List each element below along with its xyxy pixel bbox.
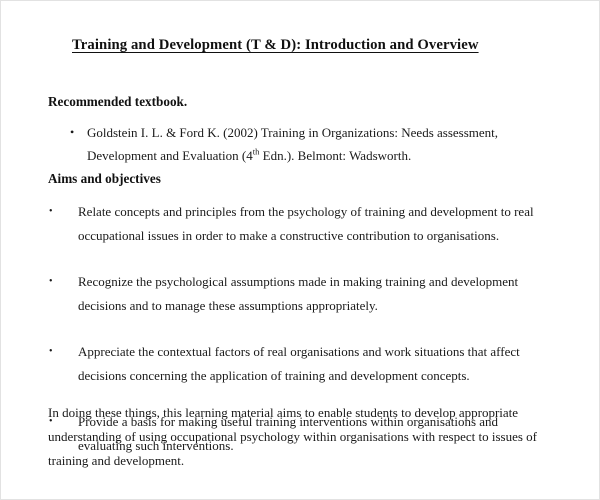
section-heading-aims-and-objectives: Aims and objectives — [48, 170, 161, 188]
bullet-icon: • — [49, 270, 53, 294]
list-item-text: Appreciate the contextual factors of rea… — [78, 344, 520, 383]
list-item-text: Relate concepts and principles from the … — [78, 204, 534, 243]
list-item: •Goldstein I. L. & Ford K. (2002) Traini… — [87, 121, 542, 167]
list-item: • Recognize the psychological assumption… — [78, 270, 550, 318]
list-item: • Appreciate the contextual factors of r… — [78, 340, 550, 388]
section-heading-recommended-textbook: Recommended textbook. — [48, 93, 187, 111]
bullet-icon: • — [49, 200, 53, 224]
page-title: Training and Development (T & D): Introd… — [72, 35, 542, 55]
list-item: • Relate concepts and principles from th… — [78, 200, 550, 248]
closing-paragraph: In doing these things, this learning mat… — [48, 401, 549, 473]
reference-text-part-2: Edn.). Belmont: Wadsworth. — [259, 148, 411, 163]
bullet-icon: • — [70, 121, 74, 144]
document-page: Training and Development (T & D): Introd… — [0, 0, 600, 500]
recommended-textbook-list: •Goldstein I. L. & Ford K. (2002) Traini… — [1, 121, 600, 167]
bullet-icon: • — [49, 340, 53, 364]
list-item-text: Recognize the psychological assumptions … — [78, 274, 518, 313]
